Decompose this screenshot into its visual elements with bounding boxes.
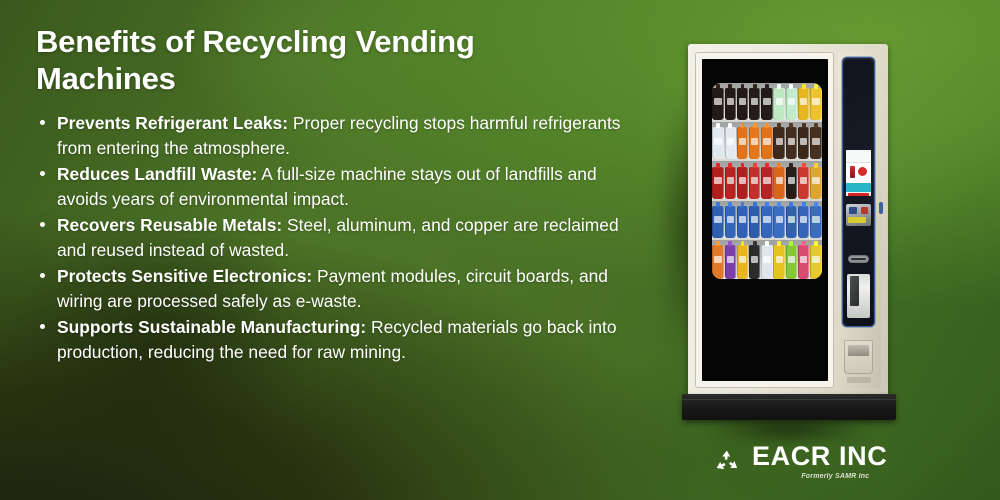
machine-glass-window <box>702 59 828 381</box>
list-item-lead: Protects Sensitive Electronics: <box>57 266 312 286</box>
product-bottle <box>749 167 760 199</box>
touch-screen-display[interactable] <box>846 150 871 196</box>
product-bottle <box>773 88 784 120</box>
product-bottle <box>761 88 772 120</box>
list-item: Prevents Refrigerant Leaks: Proper recyc… <box>36 111 622 160</box>
product-bottle <box>737 88 748 120</box>
product-shelf <box>712 240 822 279</box>
product-bottle <box>773 167 784 199</box>
product-bottle <box>798 88 809 120</box>
bullet-icon <box>40 222 45 227</box>
product-bottle <box>712 167 723 199</box>
machine-cabinet <box>688 44 888 396</box>
dispense-chute <box>847 274 870 318</box>
retrieval-door-lip <box>848 345 869 356</box>
product-bottle <box>786 88 797 120</box>
benefits-list: Prevents Refrigerant Leaks: Proper recyc… <box>36 111 622 364</box>
product-bottle <box>749 206 760 238</box>
list-item: Recovers Reusable Metals: Steel, aluminu… <box>36 213 622 262</box>
product-bottle <box>810 88 821 120</box>
product-bottle <box>810 167 821 199</box>
product-bottle <box>737 206 748 238</box>
product-bottle <box>761 206 772 238</box>
product-bottle <box>798 206 809 238</box>
product-bottle <box>761 127 772 159</box>
recycle-icon <box>712 448 742 476</box>
product-bottle <box>725 206 736 238</box>
product-bottle <box>810 245 821 279</box>
product-shelf <box>712 201 822 240</box>
screen-product-area <box>846 163 871 183</box>
card-reader-label-red <box>861 207 868 214</box>
bullet-icon <box>40 171 45 176</box>
coin-slot[interactable] <box>848 255 869 263</box>
product-bottle <box>798 167 809 199</box>
product-bottle <box>773 206 784 238</box>
list-item-lead: Recovers Reusable Metals: <box>57 215 282 235</box>
brand-logo[interactable]: EACR INC Formerly SAMR Inc <box>712 443 887 480</box>
bullet-icon <box>40 273 45 278</box>
screen-info-band <box>846 183 871 192</box>
product-bottle <box>810 127 821 159</box>
infographic-slide: Benefits of Recycling Vending Machines P… <box>0 0 1000 500</box>
product-bottle <box>712 127 723 159</box>
list-item: Protects Sensitive Electronics: Payment … <box>36 264 622 313</box>
control-panel-column <box>843 58 874 326</box>
panel-side-button[interactable] <box>879 202 883 214</box>
product-bottle <box>786 206 797 238</box>
product-bottle <box>761 245 772 279</box>
card-reader[interactable] <box>846 204 871 226</box>
vending-machine-image <box>660 40 920 435</box>
product-bottle <box>712 88 723 120</box>
product-bottle <box>773 245 784 279</box>
product-shelf <box>712 161 822 200</box>
product-bottle <box>786 245 797 279</box>
product-bottle <box>712 206 723 238</box>
screen-action-button[interactable] <box>848 193 869 196</box>
list-item: Supports Sustainable Manufacturing: Recy… <box>36 315 622 364</box>
product-bottle <box>798 245 809 279</box>
product-bottle <box>798 127 809 159</box>
product-bottle <box>786 167 797 199</box>
bullet-icon <box>40 324 45 329</box>
product-bottle <box>749 88 760 120</box>
machine-glass-door <box>695 52 834 388</box>
machine-base-plinth <box>682 394 896 420</box>
product-bottle <box>712 245 723 279</box>
product-retrieval-door[interactable] <box>844 340 873 374</box>
product-bottle <box>725 167 736 199</box>
product-bottle <box>810 206 821 238</box>
screen-header <box>846 150 871 163</box>
card-reader-label-blue <box>849 207 857 214</box>
product-bottle <box>749 127 760 159</box>
product-bottle <box>786 127 797 159</box>
list-item-lead: Reduces Landfill Waste: <box>57 164 257 184</box>
screen-product-thumb-b <box>858 167 867 176</box>
logo-company-name: EACR INC <box>752 443 887 470</box>
card-reader-label-yellow <box>848 217 866 223</box>
logo-subtitle: Formerly SAMR Inc <box>801 473 869 480</box>
bullet-icon <box>40 120 45 125</box>
text-content: Benefits of Recycling Vending Machines P… <box>36 24 622 366</box>
page-title: Benefits of Recycling Vending Machines <box>36 24 622 97</box>
list-item-lead: Supports Sustainable Manufacturing: <box>57 317 366 337</box>
product-bottle <box>737 127 748 159</box>
product-bottle <box>773 127 784 159</box>
product-bottle <box>725 127 736 159</box>
chute-flap <box>850 276 859 306</box>
machine-control-panel <box>838 52 881 388</box>
product-bottle <box>737 245 748 279</box>
product-rack <box>712 83 822 279</box>
product-bottle <box>725 245 736 279</box>
product-bottle <box>737 167 748 199</box>
product-bottle <box>749 245 760 279</box>
logo-text-block: EACR INC Formerly SAMR Inc <box>752 443 887 480</box>
list-item-lead: Prevents Refrigerant Leaks: <box>57 113 288 133</box>
list-item: Reduces Landfill Waste: A full-size mach… <box>36 162 622 211</box>
product-bottle <box>725 88 736 120</box>
product-bottle <box>761 167 772 199</box>
screen-product-thumb-a <box>850 166 855 178</box>
product-shelf <box>712 122 822 161</box>
machine-brand-plate <box>847 377 871 383</box>
product-shelf <box>712 83 822 122</box>
